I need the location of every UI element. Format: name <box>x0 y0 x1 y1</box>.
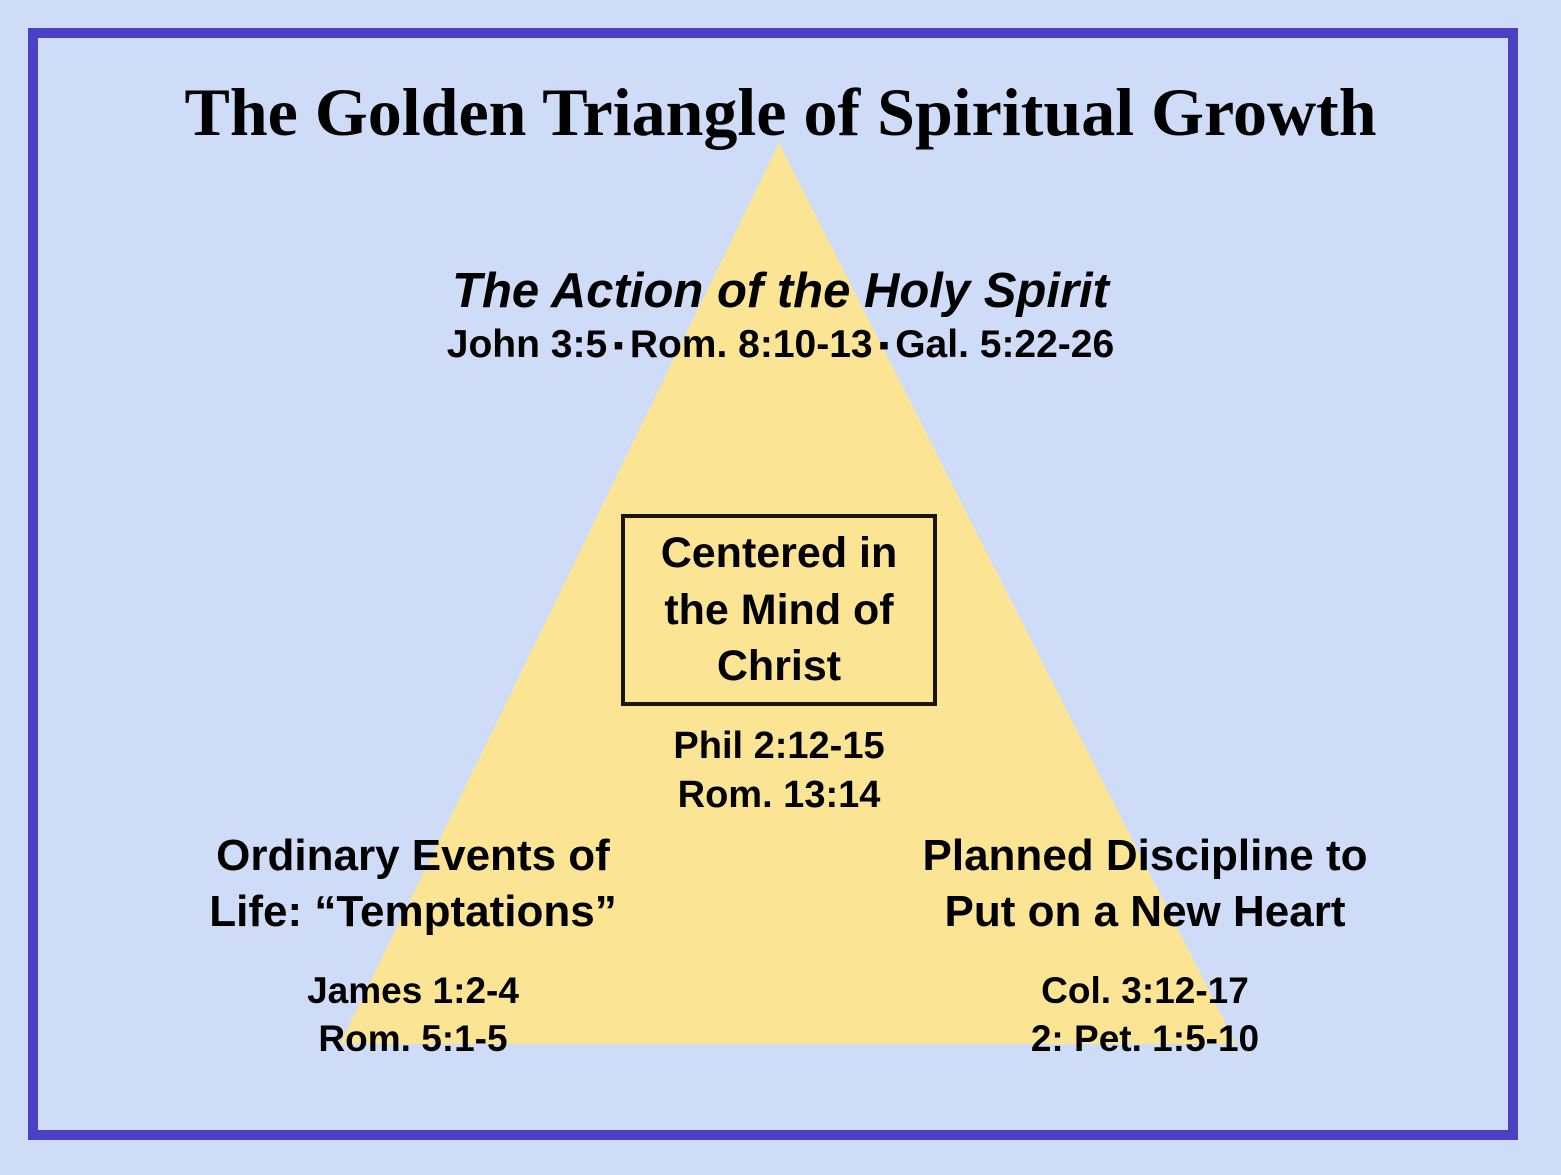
page-title: The Golden Triangle of Spiritual Growth <box>0 78 1561 146</box>
left-heading-line-1: Ordinary Events of <box>148 828 678 884</box>
right-corner-scripture-references: Col. 3:12-17 2: Pet. 1:5-10 <box>880 967 1410 1063</box>
right-corner-group: Planned Discipline to Put on a New Heart… <box>880 828 1410 1063</box>
apex-ref-3: Gal. 5:22-26 <box>895 323 1114 366</box>
center-ref-1: Phil 2:12-15 <box>621 722 937 771</box>
left-corner-group: Ordinary Events of Life: “Temptations” J… <box>148 828 678 1063</box>
right-ref-2: 2: Pet. 1:5-10 <box>880 1015 1410 1063</box>
center-ref-2: Rom. 13:14 <box>621 771 937 820</box>
left-corner-heading: Ordinary Events of Life: “Temptations” <box>148 828 678 941</box>
bullet-separator-icon: ▪ <box>607 329 630 362</box>
slide-canvas: The Golden Triangle of Spiritual Growth … <box>0 0 1561 1175</box>
apex-ref-1: John 3:5 <box>447 323 607 366</box>
right-ref-1: Col. 3:12-17 <box>880 967 1410 1015</box>
center-text-line-2: the Mind of <box>661 582 898 639</box>
apex-scripture-references: John 3:5▪Rom. 8:10-13▪Gal. 5:22-26 <box>0 324 1561 367</box>
left-ref-2: Rom. 5:1-5 <box>148 1015 678 1063</box>
apex-heading: The Action of the Holy Spirit <box>0 265 1561 318</box>
center-scripture-references: Phil 2:12-15 Rom. 13:14 <box>621 722 937 819</box>
apex-label-group: The Action of the Holy Spirit John 3:5▪R… <box>0 265 1561 367</box>
apex-ref-2: Rom. 8:10-13 <box>630 323 873 366</box>
right-heading-line-1: Planned Discipline to <box>880 828 1410 884</box>
bullet-separator-icon: ▪ <box>873 329 896 362</box>
left-ref-1: James 1:2-4 <box>148 967 678 1015</box>
center-text-line-1: Centered in <box>661 525 898 582</box>
right-heading-line-2: Put on a New Heart <box>880 884 1410 940</box>
left-corner-scripture-references: James 1:2-4 Rom. 5:1-5 <box>148 967 678 1063</box>
center-statement-box: Centered in the Mind of Christ <box>621 514 937 706</box>
center-statement-text: Centered in the Mind of Christ <box>655 525 904 695</box>
center-text-line-3: Christ <box>661 638 898 695</box>
right-corner-heading: Planned Discipline to Put on a New Heart <box>880 828 1410 941</box>
left-heading-line-2: Life: “Temptations” <box>148 884 678 940</box>
